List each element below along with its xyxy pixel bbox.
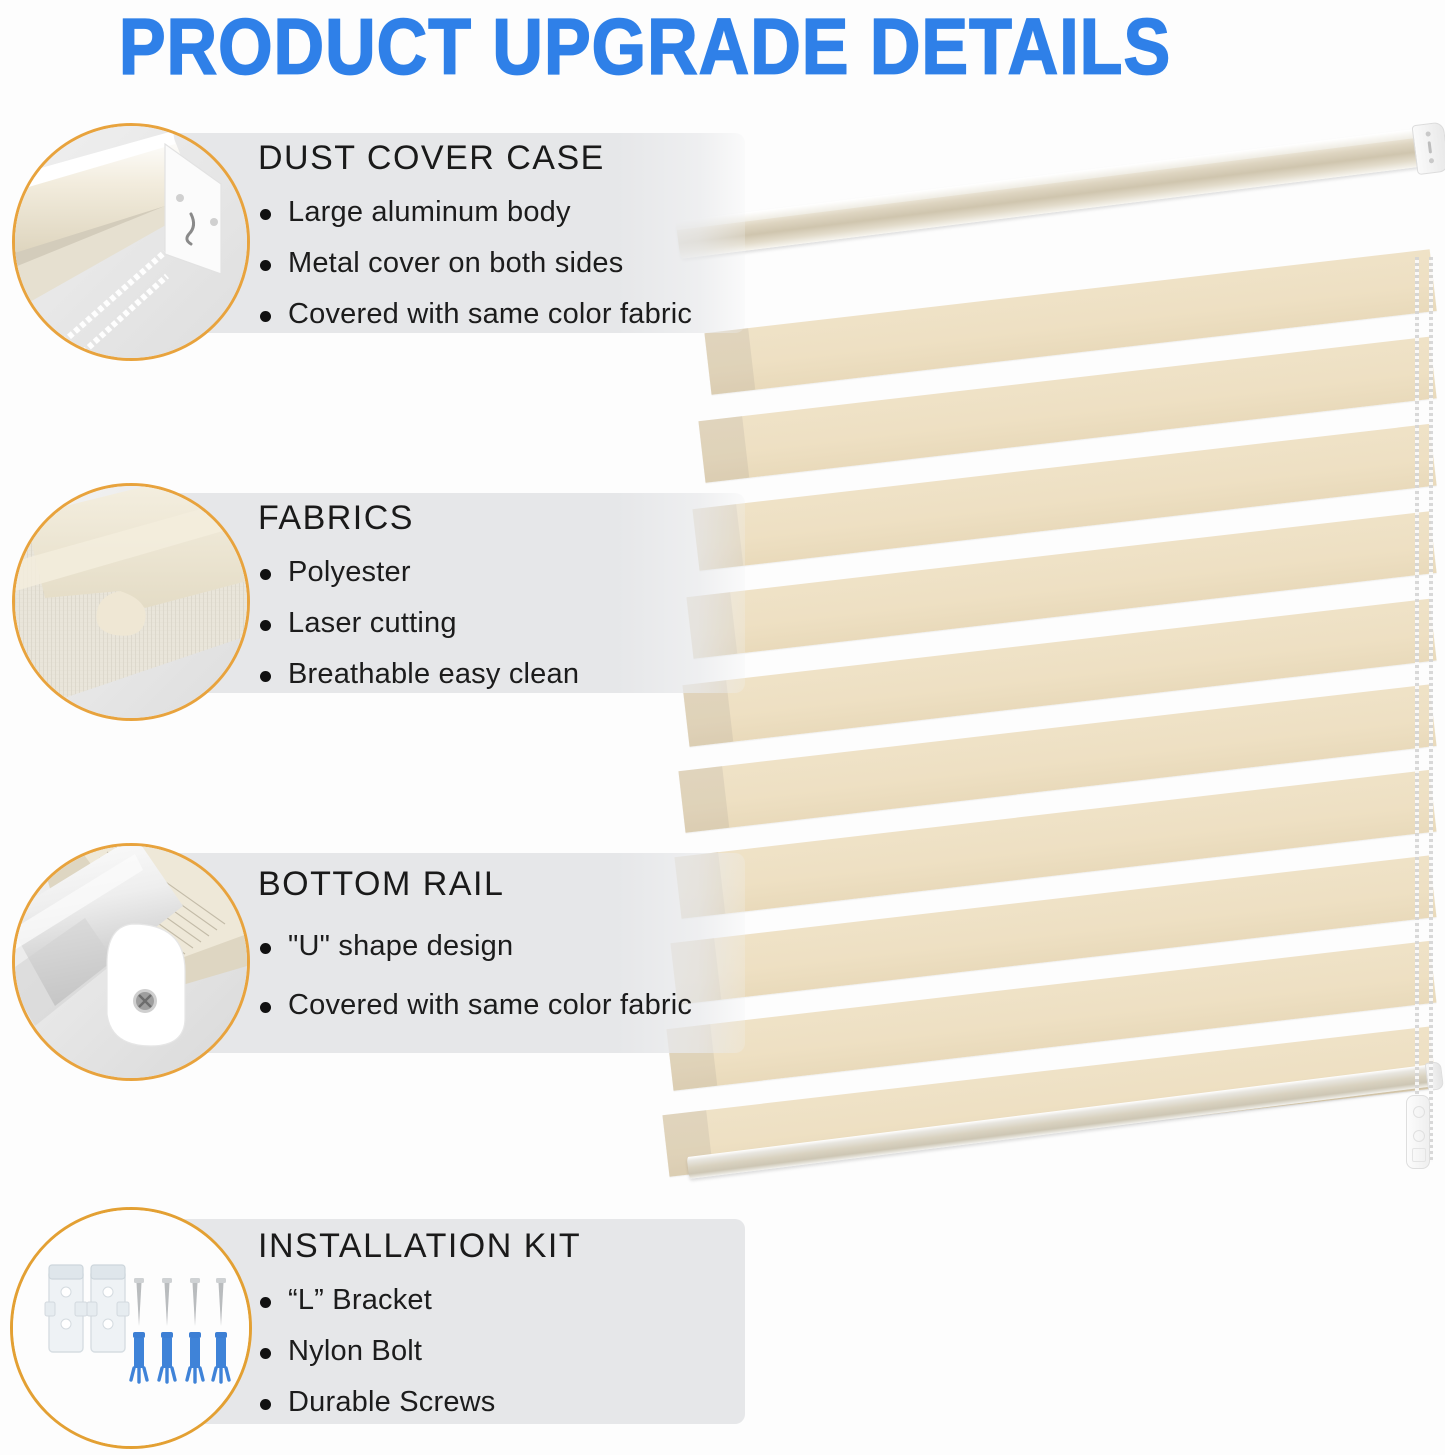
bullet-item: Covered with same color fabric bbox=[258, 989, 758, 1022]
product-image-zebra-blind bbox=[660, 215, 1445, 1305]
bullet-item: Large aluminum body bbox=[258, 196, 758, 229]
bead-chain[interactable] bbox=[1415, 257, 1419, 1162]
chain-tensioner[interactable] bbox=[1406, 1095, 1430, 1169]
bullet-item: Metal cover on both sides bbox=[258, 247, 758, 280]
installation-kit-photo bbox=[10, 1207, 252, 1449]
bullet-item: "U" shape design bbox=[258, 930, 758, 963]
page-title: PRODUCT UPGRADE DETAILS bbox=[0, 2, 1290, 92]
feature-bullet-list: "U" shape design Covered with same color… bbox=[258, 930, 758, 1022]
bottom-rail-endcap bbox=[1425, 1061, 1444, 1091]
feature-heading: FABRICS bbox=[258, 499, 758, 538]
feature-bullet-list: “L” Bracket Nylon Bolt Durable Screws bbox=[258, 1284, 758, 1419]
bullet-item: Durable Screws bbox=[258, 1386, 758, 1419]
feature-bullet-list: Large aluminum body Metal cover on both … bbox=[258, 196, 758, 331]
bullet-item: Breathable easy clean bbox=[258, 658, 758, 691]
feature-text: FABRICS Polyester Laser cutting Breathab… bbox=[258, 499, 758, 691]
bullet-item: Nylon Bolt bbox=[258, 1335, 758, 1368]
feature-text: DUST COVER CASE Large aluminum body Meta… bbox=[258, 139, 758, 331]
feature-text: INSTALLATION KIT “L” Bracket Nylon Bolt … bbox=[258, 1227, 758, 1419]
bullet-item: Polyester bbox=[258, 556, 758, 589]
infographic-page: PRODUCT UPGRADE DETAILS bbox=[0, 0, 1445, 1455]
fabric-swatch-photo bbox=[12, 483, 250, 721]
bullet-item: Covered with same color fabric bbox=[258, 298, 758, 331]
feature-bullet-list: Polyester Laser cutting Breathable easy … bbox=[258, 556, 758, 691]
headrail-highlight bbox=[676, 127, 1431, 230]
bullet-item: Laser cutting bbox=[258, 607, 758, 640]
feature-heading: BOTTOM RAIL bbox=[258, 865, 758, 904]
headrail-dust-cover bbox=[676, 127, 1435, 259]
bullet-item: “L” Bracket bbox=[258, 1284, 758, 1317]
headrail-endcap bbox=[1411, 122, 1445, 176]
feature-heading: INSTALLATION KIT bbox=[258, 1227, 758, 1266]
feature-heading: DUST COVER CASE bbox=[258, 139, 758, 178]
feature-text: BOTTOM RAIL "U" shape design Covered wit… bbox=[258, 865, 758, 1022]
bottom-rail-photo bbox=[12, 843, 250, 1081]
dust-cover-case-photo bbox=[12, 123, 250, 361]
